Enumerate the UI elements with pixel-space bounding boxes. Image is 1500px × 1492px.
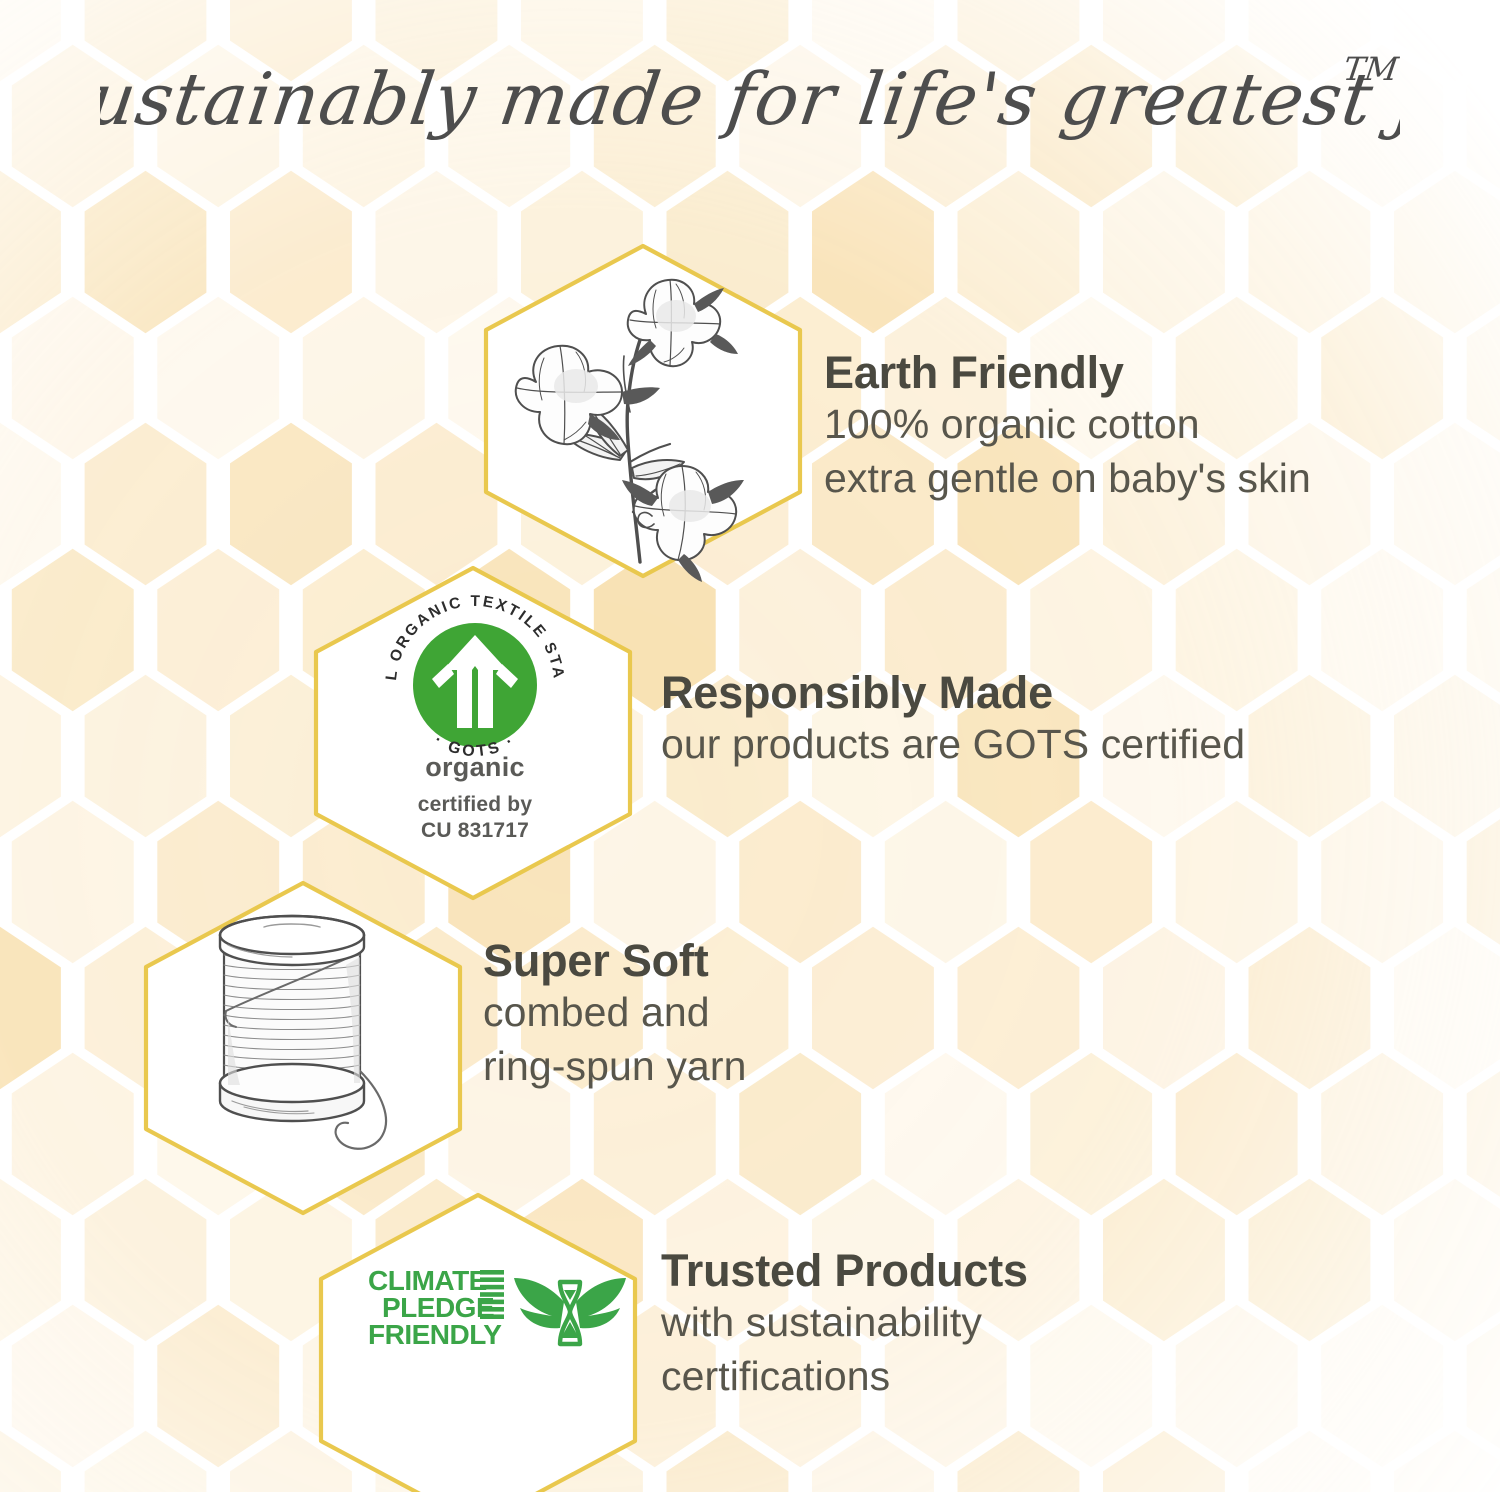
honeycomb-cell bbox=[1321, 1305, 1443, 1468]
honeycomb-cell bbox=[1394, 171, 1500, 333]
honeycomb-cell bbox=[157, 549, 279, 712]
honeycomb-cell bbox=[1176, 801, 1298, 964]
honeycomb-cell bbox=[1321, 801, 1443, 964]
honeycomb-cell bbox=[1030, 1053, 1152, 1216]
honeycomb-cell bbox=[230, 171, 352, 333]
honeycomb-cell bbox=[12, 549, 134, 712]
honeycomb-cell bbox=[885, 1053, 1007, 1216]
honeycomb-cell bbox=[1321, 1053, 1443, 1216]
honeycomb-cell bbox=[12, 1053, 134, 1216]
thread-spool-sketch-icon bbox=[188, 895, 428, 1165]
honeycomb-cell bbox=[1103, 927, 1225, 1090]
honeycomb-cell bbox=[1176, 45, 1298, 208]
honeycomb-cell bbox=[0, 927, 61, 1090]
feature-text-super-soft: Super Soft combed and ring-spun yarn bbox=[483, 936, 746, 1093]
honeycomb-cell bbox=[12, 801, 134, 964]
honeycomb-cell bbox=[448, 45, 570, 208]
honeycomb-cell bbox=[958, 927, 1080, 1090]
cpf-bars-icon bbox=[480, 1270, 506, 1328]
gots-organic-label: organic bbox=[368, 752, 582, 783]
gots-badge-caption: organic certified by CU 831717 bbox=[368, 752, 582, 845]
honeycomb-cell bbox=[12, 1305, 134, 1468]
climate-pledge-winged-hourglass-icon bbox=[512, 1272, 628, 1358]
honeycomb-cell bbox=[157, 45, 279, 208]
feature-line: combed and bbox=[483, 986, 746, 1039]
honeycomb-cell bbox=[0, 423, 61, 586]
feature-title: Trusted Products bbox=[661, 1246, 1028, 1296]
honeycomb-cell bbox=[885, 45, 1007, 208]
feature-text-responsibly-made: Responsibly Made our products are GOTS c… bbox=[661, 668, 1245, 772]
honeycomb-cell bbox=[1176, 1053, 1298, 1216]
honeycomb-cell bbox=[1249, 1179, 1371, 1342]
honeycomb-cell bbox=[85, 171, 207, 333]
honeycomb-cell bbox=[0, 675, 61, 838]
feature-title: Super Soft bbox=[483, 936, 746, 986]
honeycomb-cell bbox=[303, 297, 425, 460]
honeycomb-cell bbox=[1030, 45, 1152, 208]
honeycomb-cell bbox=[1321, 45, 1443, 208]
feature-line: our products are GOTS certified bbox=[661, 718, 1245, 771]
honeycomb-cell bbox=[1249, 927, 1371, 1090]
sustainability-infographic: sustainably made for life's greatest joy… bbox=[0, 0, 1500, 1492]
gots-certified-by-label: certified by bbox=[368, 792, 582, 818]
honeycomb-cell bbox=[157, 1305, 279, 1468]
feature-line: ring-spun yarn bbox=[483, 1040, 746, 1093]
honeycomb-cell bbox=[85, 675, 207, 838]
honeycomb-cell bbox=[885, 801, 1007, 964]
honeycomb-cell bbox=[1249, 675, 1371, 838]
feature-text-earth-friendly: Earth Friendly 100% organic cotton extra… bbox=[824, 348, 1311, 505]
honeycomb-cell bbox=[1394, 927, 1500, 1090]
honeycomb-cell bbox=[812, 171, 934, 333]
honeycomb-cell bbox=[739, 45, 861, 208]
honeycomb-cell bbox=[1394, 423, 1500, 586]
feature-title: Responsibly Made bbox=[661, 668, 1245, 718]
honeycomb-cell bbox=[739, 801, 861, 964]
climate-pledge-wordmark: CLIMATE PLEDGE FRIENDLY bbox=[368, 1268, 508, 1349]
honeycomb-cell bbox=[1030, 801, 1152, 964]
honeycomb-cell bbox=[1176, 1305, 1298, 1468]
feature-line: 100% organic cotton bbox=[824, 398, 1311, 451]
honeycomb-cell bbox=[85, 423, 207, 586]
honeycomb-cell bbox=[0, 171, 61, 333]
honeycomb-cell bbox=[739, 1053, 861, 1216]
feature-line: certifications bbox=[661, 1350, 1028, 1403]
honeycomb-cell bbox=[1394, 1179, 1500, 1342]
feature-line: extra gentle on baby's skin bbox=[824, 452, 1311, 505]
honeycomb-cell bbox=[12, 45, 134, 208]
honeycomb-cell bbox=[1394, 675, 1500, 838]
cotton-branch-sketch-icon bbox=[480, 262, 810, 582]
honeycomb-cell bbox=[1321, 549, 1443, 712]
honeycomb-cell bbox=[1321, 297, 1443, 460]
feature-line: with sustainability bbox=[661, 1296, 1028, 1349]
honeycomb-cell bbox=[1103, 1179, 1225, 1342]
gots-license-number: CU 831717 bbox=[368, 818, 582, 844]
feature-text-trusted-products: Trusted Products with sustainability cer… bbox=[661, 1246, 1028, 1403]
honeycomb-cell bbox=[1249, 171, 1371, 333]
honeycomb-cell bbox=[958, 171, 1080, 333]
honeycomb-cell bbox=[1103, 171, 1225, 333]
honeycomb-cell bbox=[812, 927, 934, 1090]
honeycomb-cell bbox=[0, 1179, 61, 1342]
honeycomb-cell bbox=[303, 45, 425, 208]
honeycomb-cell bbox=[157, 297, 279, 460]
honeycomb-cell bbox=[594, 45, 716, 208]
honeycomb-cell bbox=[12, 297, 134, 460]
honeycomb-cell bbox=[1030, 1305, 1152, 1468]
feature-title: Earth Friendly bbox=[824, 348, 1311, 398]
honeycomb-cell bbox=[230, 423, 352, 586]
